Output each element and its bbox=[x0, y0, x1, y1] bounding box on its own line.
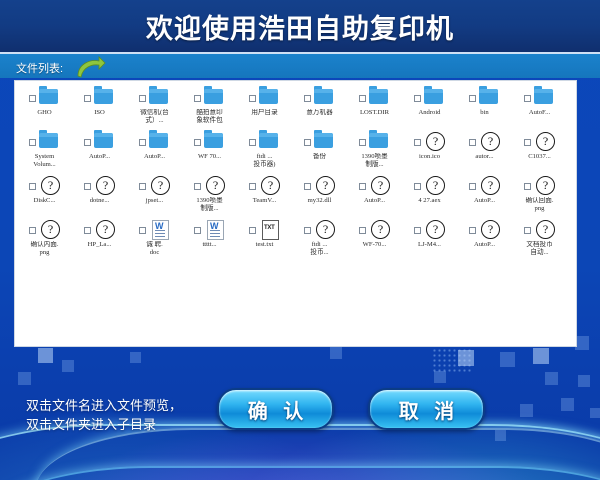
file-icon-row: ? bbox=[402, 219, 457, 241]
deco-square bbox=[533, 348, 549, 364]
unknown-file-icon: ? bbox=[422, 219, 445, 240]
file-icon-row bbox=[182, 87, 237, 109]
deco-square bbox=[545, 372, 558, 385]
file-select-checkbox[interactable] bbox=[414, 227, 421, 234]
file-item[interactable]: GHO bbox=[17, 85, 72, 129]
file-icon-row bbox=[17, 87, 72, 109]
file-icon-row: ? bbox=[182, 175, 237, 197]
unknown-file-icon: ? bbox=[147, 175, 170, 196]
file-item[interactable]: ?jpset... bbox=[127, 173, 182, 217]
file-icon-row bbox=[237, 219, 292, 241]
file-select-checkbox[interactable] bbox=[359, 95, 366, 102]
folder-icon bbox=[202, 87, 225, 108]
cancel-button[interactable]: 取 消 bbox=[368, 388, 485, 430]
file-select-checkbox[interactable] bbox=[524, 183, 531, 190]
folder-icon bbox=[367, 87, 390, 108]
file-icon-row bbox=[512, 87, 567, 109]
file-name-label: TeamV... bbox=[237, 197, 292, 205]
file-icon-row: ? bbox=[72, 219, 127, 241]
deco-square bbox=[578, 375, 590, 387]
deco-square bbox=[590, 408, 600, 418]
confirm-button-label: 确 认 bbox=[243, 395, 309, 424]
unknown-file-icon: ? bbox=[202, 175, 225, 196]
file-list-label: 文件列表: bbox=[16, 60, 63, 76]
file-select-checkbox[interactable] bbox=[359, 183, 366, 190]
file-name-label: LOST.DIR bbox=[347, 109, 402, 117]
folder-icon bbox=[257, 87, 280, 108]
file-select-checkbox[interactable] bbox=[414, 139, 421, 146]
file-select-checkbox[interactable] bbox=[469, 227, 476, 234]
file-name-label: my32.dll bbox=[292, 197, 347, 205]
file-select-checkbox[interactable] bbox=[249, 95, 256, 102]
page-title: 欢迎使用浩田自助复印机 bbox=[146, 7, 454, 46]
file-name-label: System Volum... bbox=[17, 153, 72, 168]
folder-icon bbox=[477, 87, 500, 108]
file-item[interactable]: ?确认回面. png bbox=[512, 173, 567, 217]
file-item[interactable]: 意万机器 bbox=[292, 85, 347, 129]
file-icon-row: ? bbox=[457, 131, 512, 153]
file-select-checkbox[interactable] bbox=[29, 95, 36, 102]
file-select-checkbox[interactable] bbox=[304, 95, 311, 102]
file-select-checkbox[interactable] bbox=[304, 183, 311, 190]
file-select-checkbox[interactable] bbox=[84, 227, 91, 234]
file-select-checkbox[interactable] bbox=[414, 95, 421, 102]
unknown-file-icon: ? bbox=[477, 219, 500, 240]
file-item[interactable]: ?AutoP... bbox=[457, 173, 512, 217]
file-icon-row: ? bbox=[292, 175, 347, 197]
cancel-button-label: 取 消 bbox=[394, 395, 460, 424]
file-icon-row bbox=[347, 131, 402, 153]
file-icon-row: ? bbox=[512, 131, 567, 153]
file-name-label: 意万机器 bbox=[292, 109, 347, 117]
doc-file-icon bbox=[202, 219, 225, 240]
file-icon-row: ? bbox=[17, 219, 72, 241]
folder-icon bbox=[37, 87, 60, 108]
file-name-label: 1390喷墨 制版... bbox=[347, 153, 402, 168]
file-icon-row bbox=[237, 131, 292, 153]
back-arrow-icon[interactable] bbox=[72, 56, 106, 80]
file-item[interactable]: ?HP_La... bbox=[72, 217, 127, 261]
file-select-checkbox[interactable] bbox=[469, 95, 476, 102]
deco-square bbox=[18, 372, 31, 385]
unknown-file-icon: ? bbox=[477, 131, 500, 152]
file-name-label: AutoP... bbox=[72, 153, 127, 161]
file-item[interactable]: ?my32.dll bbox=[292, 173, 347, 217]
deco-square bbox=[434, 371, 446, 383]
file-item[interactable]: 用户目录 bbox=[237, 85, 292, 129]
file-item[interactable]: ?WF-70... bbox=[347, 217, 402, 261]
file-icon-row: ? bbox=[17, 175, 72, 197]
file-select-checkbox[interactable] bbox=[304, 227, 311, 234]
swoosh-arc-3 bbox=[36, 428, 600, 480]
file-select-checkbox[interactable] bbox=[139, 227, 146, 234]
file-name-label: 备份 bbox=[292, 153, 347, 161]
file-icon-row bbox=[127, 131, 182, 153]
folder-icon bbox=[147, 87, 170, 108]
file-icon-row bbox=[127, 87, 182, 109]
deco-square bbox=[561, 398, 574, 411]
file-item[interactable]: 微信机(台 式）... bbox=[127, 85, 182, 129]
folder-icon bbox=[257, 131, 280, 152]
unknown-file-icon: ? bbox=[312, 175, 335, 196]
file-icon-row bbox=[182, 131, 237, 153]
file-item[interactable]: ?TeamV... bbox=[237, 173, 292, 217]
file-select-checkbox[interactable] bbox=[249, 183, 256, 190]
folder-icon bbox=[92, 131, 115, 152]
file-name-label: 确认回面. png bbox=[512, 197, 567, 212]
file-select-checkbox[interactable] bbox=[84, 95, 91, 102]
file-name-label: WF-70... bbox=[347, 241, 402, 249]
file-item[interactable]: ?dotne... bbox=[72, 173, 127, 217]
file-select-checkbox[interactable] bbox=[469, 139, 476, 146]
file-select-checkbox[interactable] bbox=[524, 95, 531, 102]
file-select-checkbox[interactable] bbox=[194, 139, 201, 146]
unknown-file-icon: ? bbox=[532, 175, 555, 196]
file-icon-row: ? bbox=[127, 175, 182, 197]
file-name-label: 用户目录 bbox=[237, 109, 292, 117]
file-name-label: AutoF... bbox=[512, 109, 567, 117]
folder-icon bbox=[367, 131, 390, 152]
unknown-file-icon: ? bbox=[92, 219, 115, 240]
file-item[interactable]: System Volum... bbox=[17, 129, 72, 173]
swoosh-arc-2 bbox=[0, 466, 600, 480]
file-icon-row bbox=[237, 87, 292, 109]
file-item[interactable]: ?ftdi ... 投币... bbox=[292, 217, 347, 261]
file-icon-row: ? bbox=[457, 175, 512, 197]
unknown-file-icon: ? bbox=[367, 219, 390, 240]
file-icon-row: ? bbox=[292, 219, 347, 241]
file-name-label: ttttt... bbox=[182, 241, 237, 249]
file-icon-row: ? bbox=[457, 219, 512, 241]
unknown-file-icon: ? bbox=[312, 219, 335, 240]
file-select-checkbox[interactable] bbox=[194, 183, 201, 190]
confirm-button[interactable]: 确 认 bbox=[217, 388, 334, 430]
file-icon-row bbox=[72, 131, 127, 153]
file-name-label: HP_La... bbox=[72, 241, 127, 249]
file-item[interactable]: ?DiskC... bbox=[17, 173, 72, 217]
file-name-label: GHO bbox=[17, 109, 72, 117]
file-icon-row bbox=[292, 131, 347, 153]
file-item[interactable]: ?确认内面. png bbox=[17, 217, 72, 261]
unknown-file-icon: ? bbox=[422, 175, 445, 196]
unknown-file-icon: ? bbox=[422, 131, 445, 152]
file-icon-row bbox=[182, 219, 237, 241]
deco-square bbox=[330, 347, 342, 359]
file-select-checkbox[interactable] bbox=[84, 139, 91, 146]
file-name-label: jpset... bbox=[127, 197, 182, 205]
file-item[interactable]: ftdi ... 投币器) bbox=[237, 129, 292, 173]
file-icon-row bbox=[292, 87, 347, 109]
file-item[interactable]: ?C1037... bbox=[512, 129, 567, 173]
deco-square bbox=[495, 430, 506, 441]
unknown-file-icon: ? bbox=[532, 219, 555, 240]
file-item[interactable]: ?AutoP... bbox=[457, 217, 512, 261]
file-select-checkbox[interactable] bbox=[194, 95, 201, 102]
file-icon-row bbox=[17, 131, 72, 153]
file-item[interactable]: LOST.DIR bbox=[347, 85, 402, 129]
file-item[interactable]: ?4 27.aex bbox=[402, 173, 457, 217]
file-list-panel[interactable]: GHOISO微信机(台 式）...酷拍意印 象软件包用户目录意万机器LOST.D… bbox=[14, 80, 577, 347]
file-icon-row: ? bbox=[402, 175, 457, 197]
file-name-label: WF 70... bbox=[182, 153, 237, 161]
file-item[interactable]: ?LJ-M4... bbox=[402, 217, 457, 261]
file-select-checkbox[interactable] bbox=[84, 183, 91, 190]
file-item[interactable]: 备份 bbox=[292, 129, 347, 173]
file-select-checkbox[interactable] bbox=[359, 227, 366, 234]
file-name-label: 诚 聘. doc bbox=[127, 241, 182, 256]
deco-square bbox=[38, 348, 53, 363]
folder-icon bbox=[37, 131, 60, 152]
file-name-label: ISO bbox=[72, 109, 127, 117]
file-item[interactable]: ?文档投币 自动... bbox=[512, 217, 567, 261]
doc-file-icon bbox=[147, 219, 170, 240]
file-name-label: AutoP... bbox=[457, 197, 512, 205]
folder-icon bbox=[92, 87, 115, 108]
file-select-checkbox[interactable] bbox=[414, 183, 421, 190]
file-select-checkbox[interactable] bbox=[249, 227, 256, 234]
file-select-checkbox[interactable] bbox=[194, 227, 201, 234]
file-icon-row bbox=[347, 87, 402, 109]
file-item[interactable]: WF 70... bbox=[182, 129, 237, 173]
file-name-label: Android bbox=[402, 109, 457, 117]
unknown-file-icon: ? bbox=[37, 175, 60, 196]
unknown-file-icon: ? bbox=[477, 175, 500, 196]
file-name-label: 确认内面. png bbox=[17, 241, 72, 256]
file-item[interactable]: bin bbox=[457, 85, 512, 129]
file-icon-row bbox=[72, 87, 127, 109]
file-select-checkbox[interactable] bbox=[29, 227, 36, 234]
title-bar: 欢迎使用浩田自助复印机 bbox=[0, 0, 600, 54]
file-item[interactable]: 酷拍意印 象软件包 bbox=[182, 85, 237, 129]
file-item[interactable]: ?autor... bbox=[457, 129, 512, 173]
file-select-checkbox[interactable] bbox=[359, 139, 366, 146]
file-select-checkbox[interactable] bbox=[139, 139, 146, 146]
file-item[interactable]: AutoF... bbox=[512, 85, 567, 129]
folder-icon bbox=[202, 131, 225, 152]
file-name-label: AutoP... bbox=[127, 153, 182, 161]
folder-icon bbox=[147, 131, 170, 152]
file-name-label: 4 27.aex bbox=[402, 197, 457, 205]
file-name-label: DiskC... bbox=[17, 197, 72, 205]
kiosk-screen: 欢迎使用浩田自助复印机 文件列表: GHOISO微信机(台 式）...酷拍意印 … bbox=[0, 0, 600, 480]
file-select-checkbox[interactable] bbox=[249, 139, 256, 146]
file-name-label: AutoP... bbox=[347, 197, 402, 205]
deco-square bbox=[500, 352, 515, 367]
file-item[interactable]: ?icon.ico bbox=[402, 129, 457, 173]
file-name-label: test.txt bbox=[237, 241, 292, 249]
deco-square bbox=[458, 350, 474, 366]
unknown-file-icon: ? bbox=[257, 175, 280, 196]
file-item[interactable]: test.txt bbox=[237, 217, 292, 261]
file-select-checkbox[interactable] bbox=[29, 183, 36, 190]
unknown-file-icon: ? bbox=[367, 175, 390, 196]
file-select-checkbox[interactable] bbox=[524, 139, 531, 146]
file-select-checkbox[interactable] bbox=[304, 139, 311, 146]
file-item[interactable]: AutoP... bbox=[127, 129, 182, 173]
folder-icon bbox=[532, 87, 555, 108]
file-item[interactable]: ttttt... bbox=[182, 217, 237, 261]
deco-square bbox=[62, 360, 74, 372]
unknown-file-icon: ? bbox=[92, 175, 115, 196]
file-icon-row: ? bbox=[402, 131, 457, 153]
file-item[interactable]: ?1390喷墨 制版... bbox=[182, 173, 237, 217]
file-select-checkbox[interactable] bbox=[139, 183, 146, 190]
folder-icon bbox=[422, 87, 445, 108]
file-name-label: dotne... bbox=[72, 197, 127, 205]
file-icon-row: ? bbox=[347, 219, 402, 241]
file-icon-row: ? bbox=[512, 219, 567, 241]
file-select-checkbox[interactable] bbox=[29, 139, 36, 146]
txt-file-icon bbox=[257, 219, 280, 240]
file-name-label: ftdi ... 投币... bbox=[292, 241, 347, 256]
unknown-file-icon: ? bbox=[37, 219, 60, 240]
file-name-label: 1390喷墨 制版... bbox=[182, 197, 237, 212]
file-name-label: C1037... bbox=[512, 153, 567, 161]
file-item[interactable]: AutoP... bbox=[72, 129, 127, 173]
file-icon-row bbox=[457, 87, 512, 109]
file-name-label: autor... bbox=[457, 153, 512, 161]
file-item[interactable]: 诚 聘. doc bbox=[127, 217, 182, 261]
file-select-checkbox[interactable] bbox=[469, 183, 476, 190]
file-name-label: bin bbox=[457, 109, 512, 117]
file-name-label: 微信机(台 式）... bbox=[127, 109, 182, 124]
file-item[interactable]: ISO bbox=[72, 85, 127, 129]
file-grid: GHOISO微信机(台 式）...酷拍意印 象软件包用户目录意万机器LOST.D… bbox=[15, 81, 576, 261]
file-icon-row bbox=[127, 219, 182, 241]
folder-icon bbox=[312, 131, 335, 152]
file-name-label: icon.ico bbox=[402, 153, 457, 161]
file-icon-row: ? bbox=[237, 175, 292, 197]
file-name-label: ftdi ... 投币器) bbox=[237, 153, 292, 168]
folder-icon bbox=[312, 87, 335, 108]
file-icon-row: ? bbox=[347, 175, 402, 197]
usage-hint: 双击文件名进入文件预览， 双击文件夹进入子目录 bbox=[26, 396, 182, 434]
file-name-label: AutoP... bbox=[457, 241, 512, 249]
file-item[interactable]: ?AutoP... bbox=[347, 173, 402, 217]
deco-square bbox=[575, 336, 589, 350]
file-icon-row bbox=[402, 87, 457, 109]
file-icon-row: ? bbox=[72, 175, 127, 197]
file-select-checkbox[interactable] bbox=[139, 95, 146, 102]
unknown-file-icon: ? bbox=[532, 131, 555, 152]
file-item[interactable]: 1390喷墨 制版... bbox=[347, 129, 402, 173]
file-name-label: 酷拍意印 象软件包 bbox=[182, 109, 237, 124]
file-name-label: LJ-M4... bbox=[402, 241, 457, 249]
deco-square bbox=[130, 352, 141, 363]
file-select-checkbox[interactable] bbox=[524, 227, 531, 234]
file-name-label: 文档投币 自动... bbox=[512, 241, 567, 256]
file-item[interactable]: Android bbox=[402, 85, 457, 129]
deco-square bbox=[520, 404, 533, 417]
file-icon-row: ? bbox=[512, 175, 567, 197]
